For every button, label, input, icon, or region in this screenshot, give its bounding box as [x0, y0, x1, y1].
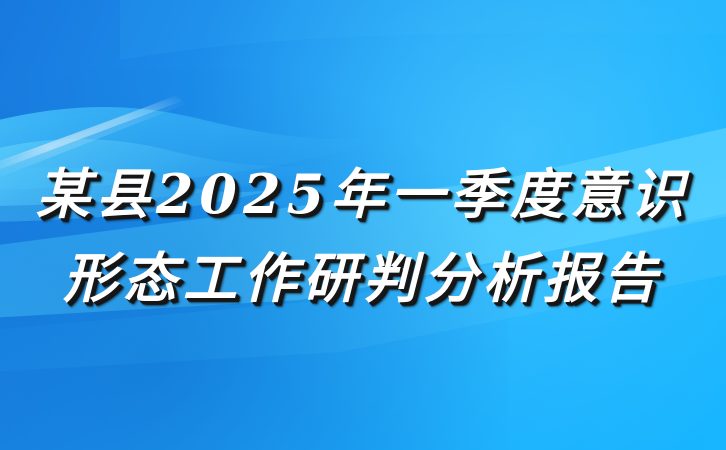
title-line-1: 某县2025年一季度意识 — [0, 152, 726, 236]
poster-title: 某县2025年一季度意识 形态工作研判分析报告 — [0, 152, 726, 320]
title-line-2: 形态工作研判分析报告 — [0, 236, 726, 320]
poster-banner: 某县2025年一季度意识 形态工作研判分析报告 — [0, 0, 726, 450]
highlight-sweep-upper — [120, 0, 726, 60]
